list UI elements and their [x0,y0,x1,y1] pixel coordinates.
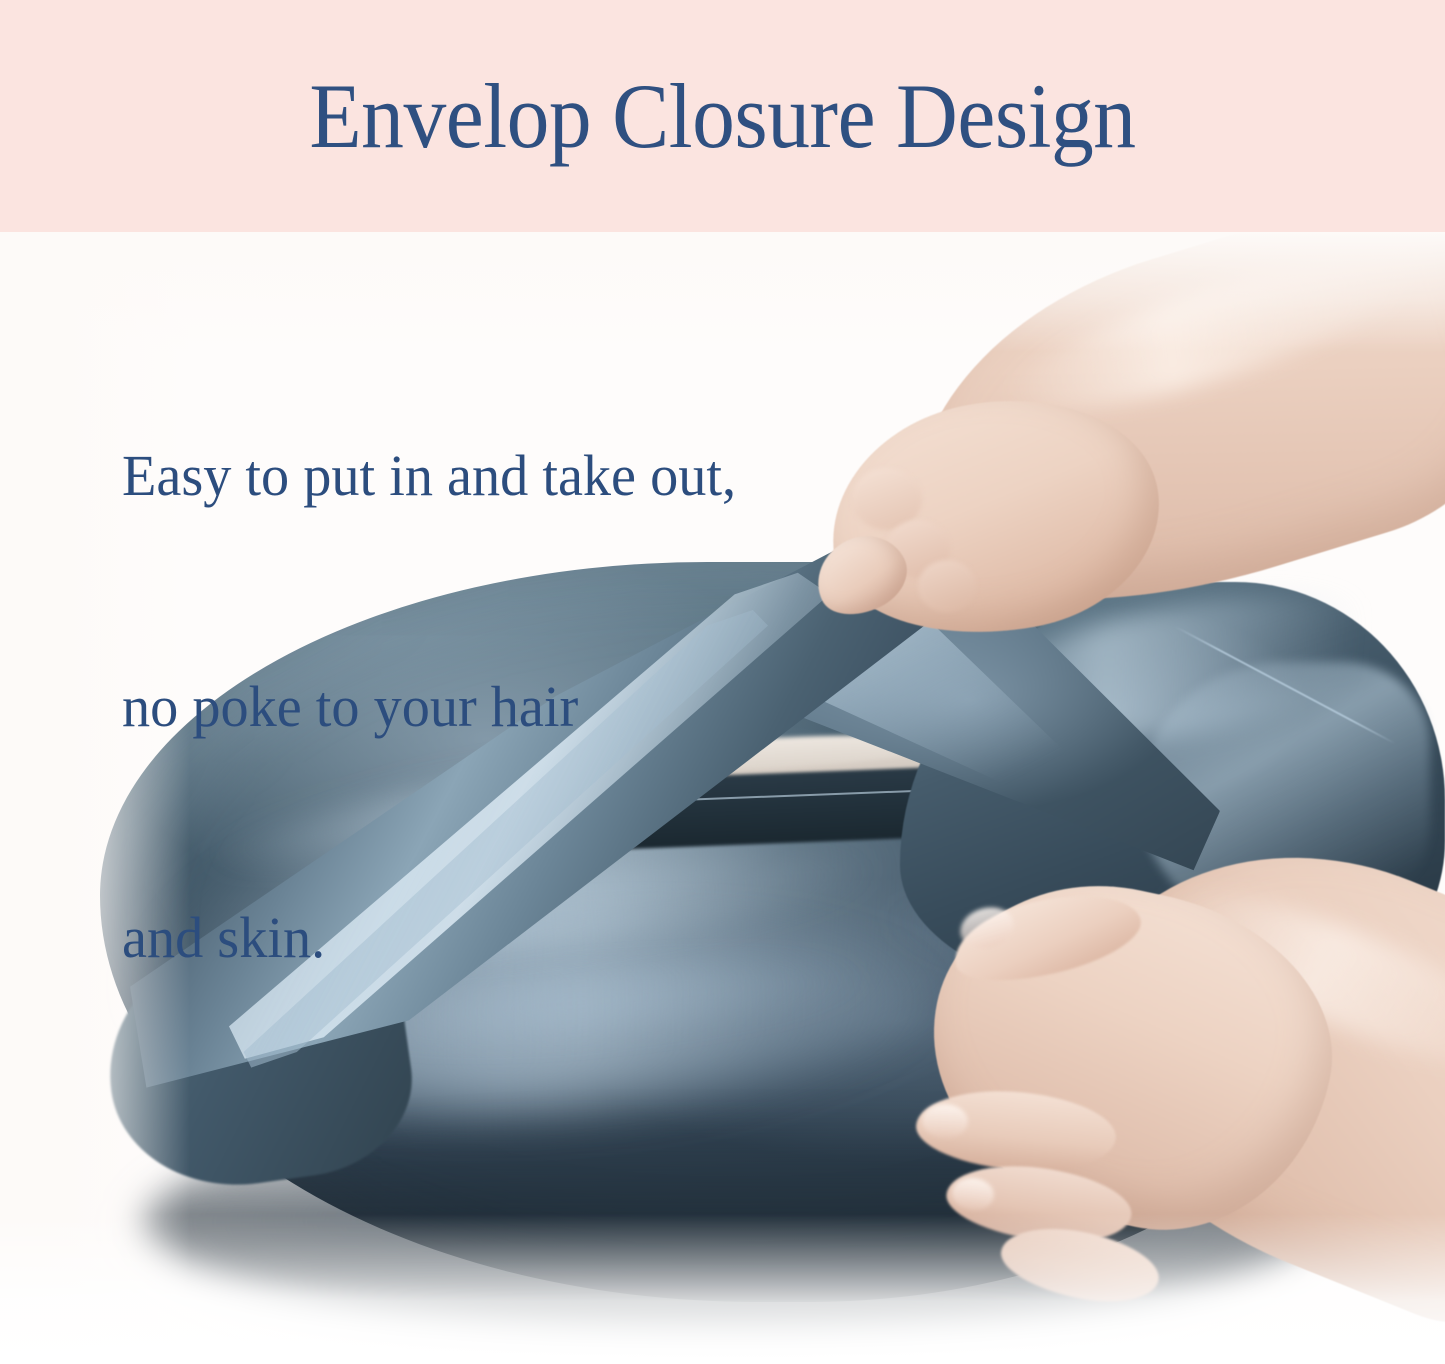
product-feature-page: Easy to put in and take out, no poke to … [0,0,1445,1364]
page-title: Envelop Closure Design [51,0,1395,232]
header-band: Envelop Closure Design [0,0,1445,232]
photo-top-fade [0,232,1445,352]
photo-bottom-fade [0,1214,1445,1364]
product-photo [0,232,1445,1364]
photo-left-fade [0,232,190,1364]
knuckle [918,560,976,612]
